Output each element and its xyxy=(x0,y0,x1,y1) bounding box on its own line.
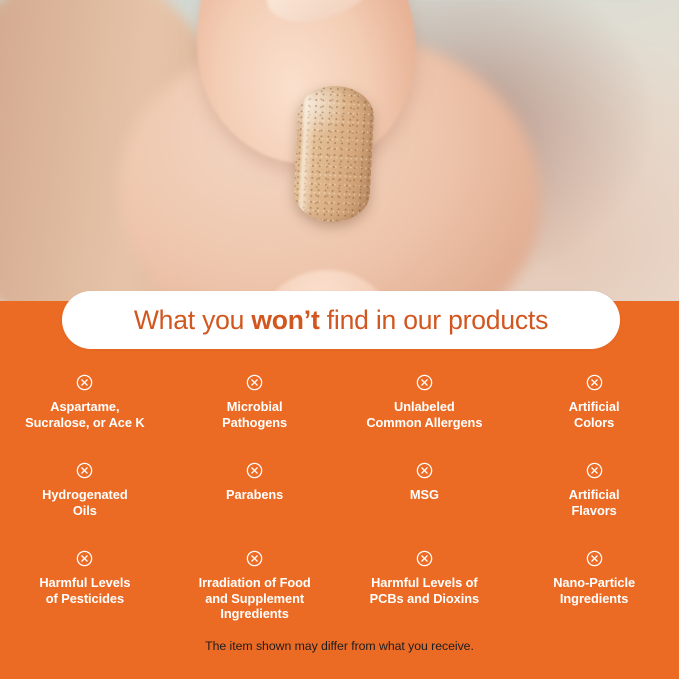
grid-item-label: Artificial Colors xyxy=(569,399,620,430)
grid-item-label: Harmful Levels of Pesticides xyxy=(39,575,130,606)
grid-item: Aspartame, Sucralose, or Ace K xyxy=(0,366,170,454)
grid-item: MSG xyxy=(340,454,510,542)
grid-item: Unlabeled Common Allergens xyxy=(340,366,510,454)
circle-x-icon xyxy=(586,550,603,567)
circle-x-icon xyxy=(586,462,603,479)
grid-item: Harmful Levels of Pesticides xyxy=(0,542,170,636)
grid-item-label: Microbial Pathogens xyxy=(222,399,287,430)
grid-item-label: Hydrogenated Oils xyxy=(42,487,127,518)
circle-x-icon xyxy=(586,374,603,391)
circle-x-icon xyxy=(246,462,263,479)
grid-item: Irradiation of Food and Supplement Ingre… xyxy=(170,542,340,636)
grid-row: Harmful Levels of Pesticides Irradiation… xyxy=(0,542,679,636)
grid-item: Artificial Colors xyxy=(509,366,679,454)
grid-item: Artificial Flavors xyxy=(509,454,679,542)
grid-row: Aspartame, Sucralose, or Ace K Microbial… xyxy=(0,366,679,454)
grid-item-label: Irradiation of Food and Supplement Ingre… xyxy=(199,575,311,622)
grid-item-label: MSG xyxy=(410,487,439,503)
circle-x-icon xyxy=(76,462,93,479)
headline-part-after: find in our products xyxy=(320,305,549,335)
grid-item-label: Unlabeled Common Allergens xyxy=(366,399,482,430)
product-photo xyxy=(0,0,679,301)
footer: The item shown may differ from what you … xyxy=(0,637,679,655)
circle-x-icon xyxy=(416,550,433,567)
circle-x-icon xyxy=(416,462,433,479)
grid-item-label: Parabens xyxy=(226,487,283,503)
grid-item-label: Artificial Flavors xyxy=(569,487,620,518)
page-title: What you won’t find in our products xyxy=(134,305,548,336)
thumbnail-shape xyxy=(253,0,384,34)
headline-pill: What you won’t find in our products xyxy=(62,291,620,349)
grid-row: Hydrogenated Oils Parabens MSG xyxy=(0,454,679,542)
headline-emphasis: won’t xyxy=(251,305,319,335)
excluded-ingredients-grid: Aspartame, Sucralose, or Ace K Microbial… xyxy=(0,366,679,636)
grid-item-label: Aspartame, Sucralose, or Ace K xyxy=(25,399,144,430)
grid-item: Nano-Particle Ingredients xyxy=(509,542,679,636)
grid-item: Parabens xyxy=(170,454,340,542)
grid-item: Harmful Levels of PCBs and Dioxins xyxy=(340,542,510,636)
product-claims-infographic: What you won’t find in our products Aspa… xyxy=(0,0,679,679)
circle-x-icon xyxy=(416,374,433,391)
disclaimer-text: The item shown may differ from what you … xyxy=(205,639,474,653)
headline-part-before: What you xyxy=(134,305,252,335)
circle-x-icon xyxy=(246,374,263,391)
grid-item: Hydrogenated Oils xyxy=(0,454,170,542)
circle-x-icon xyxy=(246,550,263,567)
circle-x-icon xyxy=(76,374,93,391)
grid-item-label: Harmful Levels of PCBs and Dioxins xyxy=(370,575,479,606)
grid-item-label: Nano-Particle Ingredients xyxy=(553,575,635,606)
supplement-tablet xyxy=(292,84,375,224)
circle-x-icon xyxy=(76,550,93,567)
grid-item: Microbial Pathogens xyxy=(170,366,340,454)
